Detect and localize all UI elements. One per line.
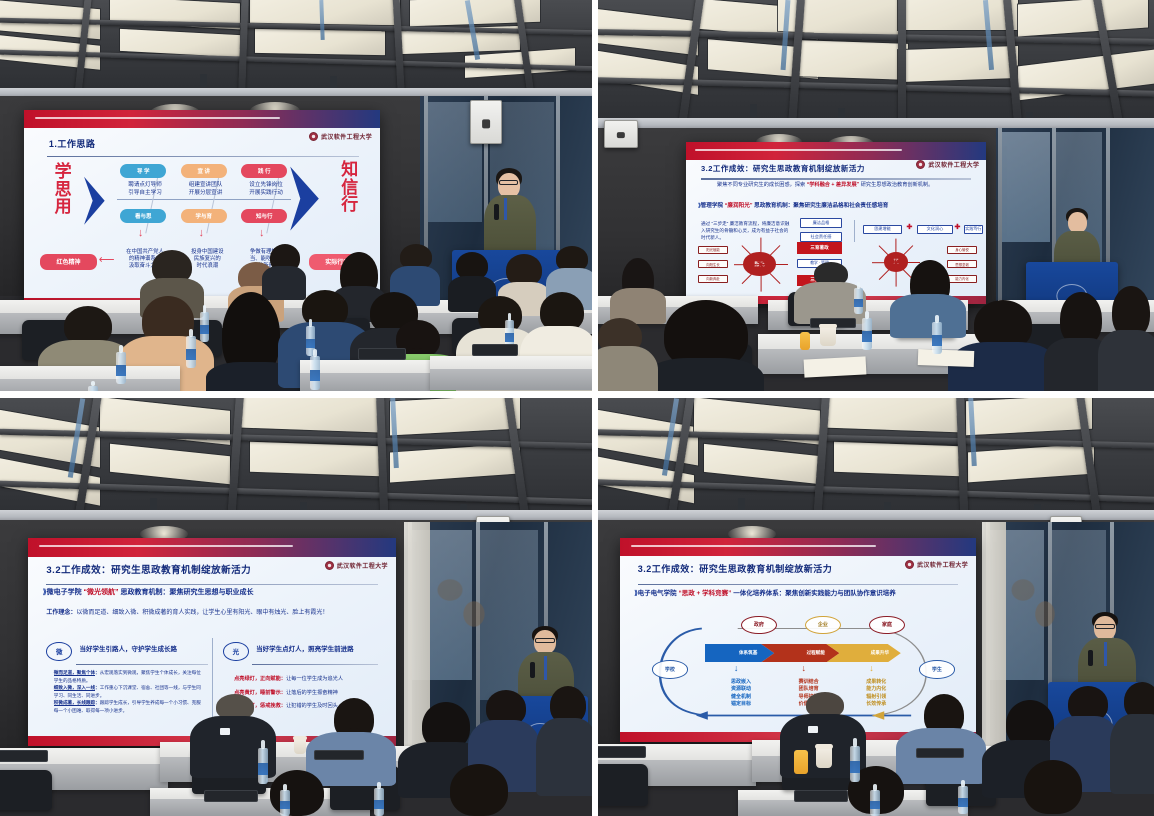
circle-family: 家庭 bbox=[869, 616, 905, 634]
tag-red-spirit: 红色精神 bbox=[40, 254, 97, 271]
photo-cell-top-left: 武汉软件工程大学 1.工作思路 学思用 导 学 宣 讲 践 行 聘请点灯导 bbox=[0, 0, 598, 398]
pill-bot-2: 学与育 bbox=[181, 209, 227, 223]
left-arrow-icon bbox=[81, 175, 109, 226]
slide-title: 3.2工作成效：研究生思政教育机制绽放新活力 bbox=[46, 562, 251, 576]
col-right-heading: 当好学生点灯人，照亮学生前进路 bbox=[256, 645, 354, 655]
down-arrow-2: ↓ bbox=[198, 227, 204, 239]
chev-label-3: 成果升华 bbox=[844, 644, 915, 662]
notebook bbox=[804, 356, 867, 377]
slide-title: 3.2工作成效：研究生思政教育机制绽放新活力 bbox=[638, 562, 833, 575]
circle-char-wei: 微 bbox=[46, 642, 72, 661]
slide-header-band bbox=[24, 110, 380, 128]
flow-box-4: 文化润心 bbox=[917, 225, 953, 235]
pill-bot-1: 看与思 bbox=[120, 209, 166, 223]
circle-school: 学校 bbox=[652, 660, 688, 678]
slide-title: 1.工作思路 bbox=[49, 137, 96, 150]
slide-heading: ⟫ 电子电气学院 “思政 + 学科竞赛” 一体化培养体系：聚焦创新实践能力与团队… bbox=[634, 589, 962, 599]
logo-mark bbox=[309, 132, 318, 141]
slide-heading-2: ⟫ 管理学院 “廉润阳光” 思政教育机制：聚焦研究生廉洁品格和社会责任感培育 bbox=[698, 202, 974, 210]
audience-member bbox=[644, 300, 764, 391]
slide-paragraph-2: 通过 “三步走” 廉洁教育流程，将廉洁意识融入研究生的骨髓和心灵，成为有益于社会… bbox=[701, 221, 791, 242]
banner-top: 三育著政 bbox=[797, 242, 842, 253]
audience-member bbox=[536, 686, 592, 794]
fishbone-left-chars: 学思用 bbox=[42, 163, 85, 215]
slide-concept: 工作理念：以微而足道、细致入微、积微成著的育人实践，让学生心里有阳光、眼中有烛光… bbox=[46, 609, 377, 619]
circle-enterprise: 企业 bbox=[805, 616, 841, 634]
circle-student: 学生 bbox=[919, 660, 955, 678]
flow-box-2: 社会责任感 bbox=[800, 232, 842, 242]
flow-box-1: 廉洁品格 bbox=[800, 218, 842, 228]
down-arrow-1: ↓ bbox=[734, 663, 739, 673]
minibox-l2: 向阳生长 bbox=[698, 260, 728, 268]
audience-member bbox=[994, 760, 1118, 816]
slide-paragraph-1: 聚焦不同专业研究生的成长困惑，探索 “学科融合 + 差异发展” 研究生思想政治教… bbox=[707, 182, 971, 190]
pill-top-3: 践 行 bbox=[241, 164, 287, 178]
pill-bot-3: 知与行 bbox=[241, 209, 287, 223]
photo-collage: 武汉软件工程大学 1.工作思路 学思用 导 学 宣 讲 践 行 聘请点灯导 bbox=[0, 0, 1154, 816]
plus-icon-1: ✚ bbox=[907, 223, 913, 231]
minibox-l1: 阳光赋能 bbox=[698, 246, 728, 254]
ceiling bbox=[0, 0, 592, 92]
audience-member bbox=[598, 318, 658, 391]
flow-box-3: 思建增能 bbox=[863, 225, 902, 235]
fishbone-text-2: 组建宣讲团队开展分层宣讲 bbox=[175, 182, 236, 197]
photo-cell-top-right: 武汉软件工程大学 3.2工作成效：研究生思政教育机制绽放新活力 聚焦不同专业研究… bbox=[598, 0, 1154, 398]
minibox-r1: 身心愉悦 bbox=[947, 246, 977, 254]
conference-photo-top-right: 武汉软件工程大学 3.2工作成效：研究生思政教育机制绽放新活力 聚焦不同专业研究… bbox=[598, 0, 1154, 391]
slide-title: 3.2工作成效：研究生思政教育机制绽放新活力 bbox=[701, 163, 865, 174]
chev-label-1: 体系筑基 bbox=[713, 644, 784, 662]
chev-label-2: 过程赋能 bbox=[780, 644, 851, 662]
circle-char-guang: 光 bbox=[223, 642, 249, 661]
audience-member bbox=[262, 244, 306, 296]
conference-photo-bottom-right: 武汉软件工程大学 3.2工作成效：研究生思政教育机制绽放新活力 ⟫ 电子电气学院… bbox=[598, 398, 1154, 816]
arrow-left-icon: ⟵ bbox=[99, 253, 115, 266]
down-arrow-3: ↓ bbox=[869, 663, 874, 673]
col-1-items: 思政嵌入资源联动健全机制锚定目标 bbox=[713, 679, 770, 709]
fishbone-right-chars: 知信行 bbox=[327, 161, 373, 213]
audience-member bbox=[420, 764, 540, 816]
audience-member bbox=[1098, 286, 1154, 391]
audience-member bbox=[948, 300, 1058, 391]
circle-gov: 政府 bbox=[741, 616, 777, 634]
ceiling-speaker-icon bbox=[470, 100, 502, 144]
col-left-items: 微而足道，聚焦个体：从宏观落实到微观，聚焦学生个体成长，关注每位学生的品格特质。… bbox=[54, 669, 205, 714]
fishbone-text-1: 聘请点灯导师引导自主学习 bbox=[115, 182, 176, 197]
conference-photo-bottom-left: 武汉软件工程大学 3.2工作成效：研究生思政教育机制绽放新活力 ⟫ 微电子学院 … bbox=[0, 398, 592, 816]
flow-box-5: 实践笃行 bbox=[964, 225, 984, 235]
photo-cell-bottom-right: 武汉软件工程大学 3.2工作成效：研究生思政教育机制绽放新活力 ⟫ 电子电气学院… bbox=[598, 398, 1154, 816]
pill-top-2: 宣 讲 bbox=[181, 164, 227, 178]
right-arrow-icon bbox=[284, 165, 327, 232]
ceiling-speaker-icon bbox=[604, 120, 638, 148]
down-arrow-2: ↓ bbox=[802, 663, 807, 673]
minibox-l3: 向新奔赴 bbox=[698, 275, 728, 283]
photo-cell-bottom-left: 武汉软件工程大学 3.2工作成效：研究生思政教育机制绽放新活力 ⟫ 微电子学院 … bbox=[0, 398, 598, 816]
slide-heading: ⟫ 微电子学院 “微光领航” 思政教育机制：聚焦研究生思想与职业成长 bbox=[43, 588, 382, 599]
down-arrow-3: ↓ bbox=[259, 227, 265, 239]
plus-icon-2: ✚ bbox=[955, 223, 961, 231]
logo-text: 武汉软件工程大学 bbox=[321, 132, 372, 141]
university-logo: 武汉软件工程大学 bbox=[309, 132, 372, 141]
col-left-heading: 当好学生引路人，守护学生成长路 bbox=[80, 645, 178, 655]
conference-photo-top-left: 武汉软件工程大学 1.工作思路 学思用 导 学 宣 讲 践 行 聘请点灯导 bbox=[0, 0, 592, 391]
down-arrow-1: ↓ bbox=[138, 227, 144, 239]
pill-top-1: 导 学 bbox=[120, 164, 166, 178]
notebook bbox=[918, 349, 975, 367]
